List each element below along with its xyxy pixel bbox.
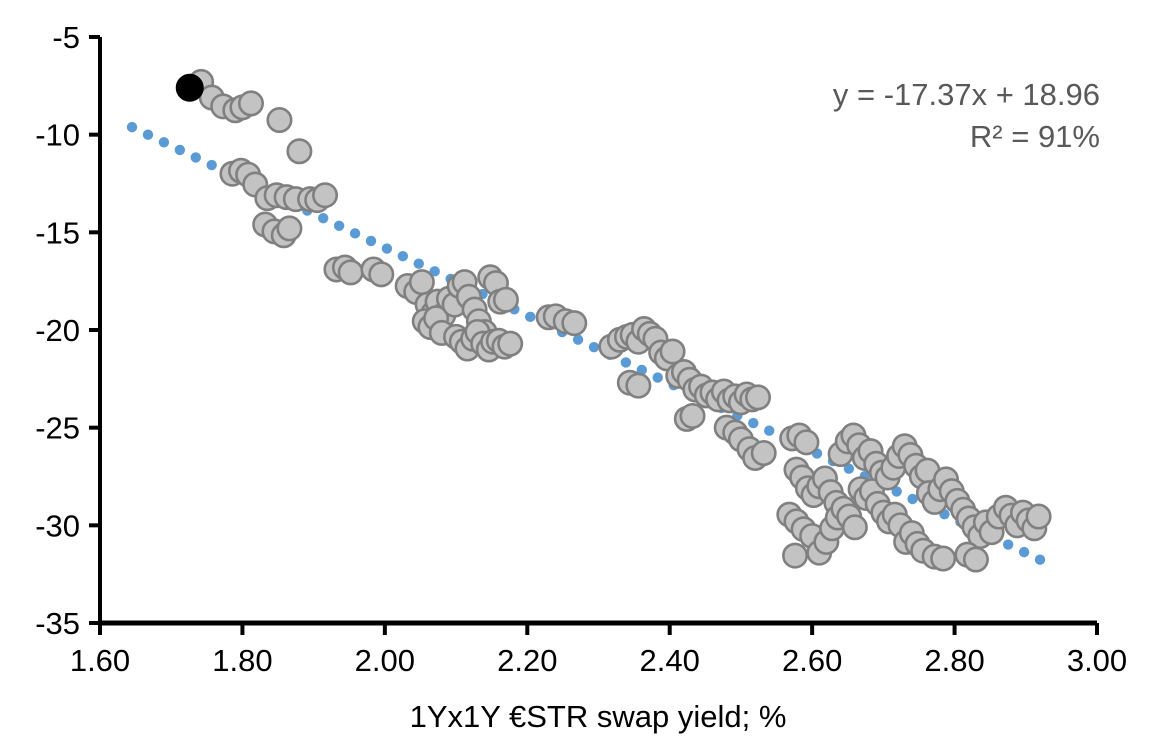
data-point [239, 92, 262, 115]
data-point [627, 374, 650, 397]
y-axis-tick-label: -30 [35, 508, 80, 543]
data-point [339, 261, 362, 284]
x-axis-title: 1Yx1Y €STR swap yield; % [410, 699, 787, 734]
data-point [1027, 505, 1050, 528]
trendline-dot [525, 312, 535, 322]
data-point [494, 288, 517, 311]
trendline-equation-annotation: y = -17.37x + 18.96 [833, 77, 1100, 112]
data-point [931, 547, 954, 570]
trendline-dot [398, 251, 408, 261]
x-axis-tick-label: 1.60 [70, 643, 130, 678]
trendline-dot [589, 342, 599, 352]
x-axis-tick-label: 2.40 [640, 643, 700, 678]
r-squared-annotation: R² = 91% [970, 119, 1100, 154]
data-point [288, 140, 311, 163]
y-axis-tick-label: -5 [52, 20, 80, 55]
y-axis-tick-label: -25 [35, 411, 80, 446]
data-point [370, 263, 393, 286]
x-axis-tick-label: 2.80 [924, 643, 984, 678]
trendline-dot [1019, 547, 1029, 557]
y-axis-tick-label: -20 [35, 313, 80, 348]
data-point [843, 516, 866, 539]
trendline-dot [175, 145, 185, 155]
x-axis-tick-label: 2.60 [782, 643, 842, 678]
trendline-dot [350, 228, 360, 238]
x-axis-tick-label: 1.80 [212, 643, 272, 678]
data-point [278, 217, 301, 240]
x-axis-tick-label: 2.20 [497, 643, 557, 678]
trendline-dot [748, 418, 758, 428]
trendline-dot [1003, 539, 1013, 549]
trendline-dot [127, 122, 137, 132]
data-point [268, 108, 291, 131]
trendline-dot [621, 357, 631, 367]
y-axis-tick-label: -35 [35, 606, 80, 641]
trendline-dot [764, 425, 774, 435]
trendline-dot [334, 221, 344, 231]
data-point [964, 548, 987, 571]
data-point [410, 270, 433, 293]
x-axis-tick-label: 2.00 [355, 643, 415, 678]
trendline-dot [206, 160, 216, 170]
chart-canvas: -5-10-15-20-25-30-35 1.601.802.002.202.4… [0, 0, 1152, 745]
data-point [498, 332, 521, 355]
trendline-dot [1035, 555, 1045, 565]
trendline-dot [143, 130, 153, 140]
trendline-dot [382, 243, 392, 253]
trendline-dot [414, 259, 424, 269]
data-point [563, 311, 586, 334]
data-point [313, 184, 336, 207]
y-axis-tick-label: -15 [35, 215, 80, 250]
x-axis-tick-label: 3.00 [1067, 643, 1127, 678]
data-point [746, 386, 769, 409]
trendline-dot [191, 152, 201, 162]
scatter-chart: -5-10-15-20-25-30-35 1.601.802.002.202.4… [0, 0, 1152, 745]
y-axis-tick-label: -10 [35, 118, 80, 153]
highlighted-data-point [177, 75, 202, 100]
data-point [795, 431, 818, 454]
trendline-dot [159, 137, 169, 147]
trendline-dot [318, 213, 328, 223]
data-point [681, 404, 704, 427]
trendline-dot [366, 236, 376, 246]
data-point [752, 441, 775, 464]
trendline-dot [653, 372, 663, 382]
data-point [783, 544, 806, 567]
